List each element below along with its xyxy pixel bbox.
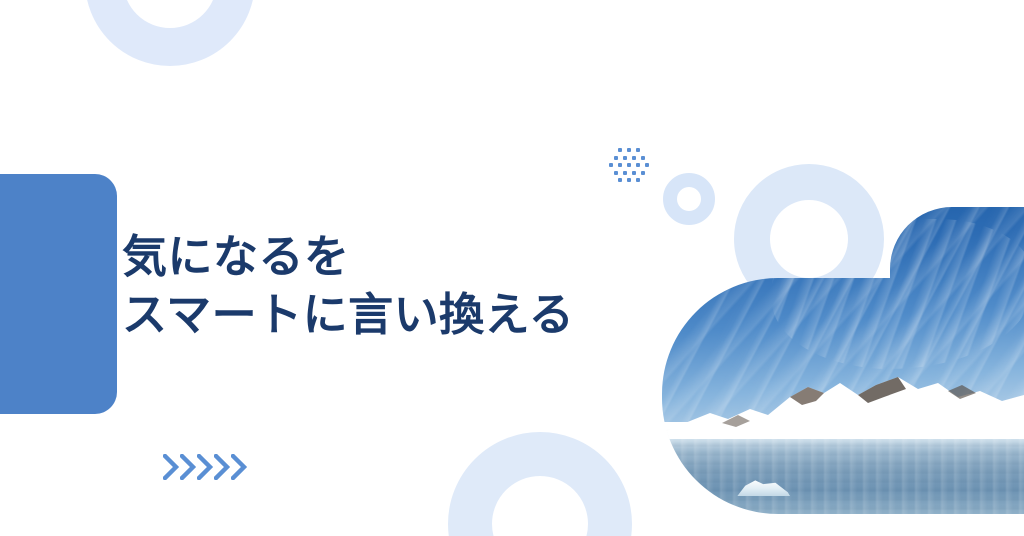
- cirrus-clouds: [890, 207, 1024, 317]
- dot: [614, 156, 618, 160]
- dot: [632, 171, 636, 175]
- dot: [614, 171, 618, 175]
- blue-rounded-block: [0, 174, 117, 414]
- dot: [641, 156, 645, 160]
- iceberg: [734, 479, 790, 496]
- ring-bottom: [448, 432, 632, 536]
- photo-scene: [890, 207, 1024, 317]
- dot-diamond: [604, 146, 654, 184]
- dot: [641, 171, 645, 175]
- ring-small: [663, 173, 715, 225]
- dot: [627, 148, 631, 152]
- chevron-right-icon: [214, 454, 230, 480]
- dot: [636, 148, 640, 152]
- dot: [645, 163, 649, 167]
- page-title: 気になるを スマートに言い換える: [122, 228, 574, 343]
- ring-large: [734, 164, 884, 314]
- snow-mountains: [662, 375, 1024, 451]
- ring-top-left: [85, 0, 255, 66]
- slide-canvas: 気になるを スマートに言い換える: [0, 0, 1024, 536]
- dot: [609, 163, 613, 167]
- dot: [618, 178, 622, 182]
- dot: [618, 163, 622, 167]
- cirrus-clouds-secondary: [890, 219, 1024, 317]
- sky: [890, 207, 1024, 317]
- page-title-line-1: 気になるを: [122, 228, 574, 286]
- dot: [632, 156, 636, 160]
- chevron-right-icon: [197, 454, 213, 480]
- dot: [623, 156, 627, 160]
- dot: [636, 178, 640, 182]
- photo-upper-block: [890, 207, 1024, 317]
- water-reflections: [662, 439, 1024, 514]
- chevron-arrows: [163, 453, 247, 481]
- page-title-line-2: スマートに言い換える: [122, 286, 574, 344]
- dot: [636, 163, 640, 167]
- dot: [618, 148, 622, 152]
- ice-shelf: [662, 429, 1024, 443]
- photo-lower-block: [662, 278, 1024, 514]
- water: [662, 439, 1024, 514]
- dot: [623, 171, 627, 175]
- chevron-right-icon: [163, 454, 179, 480]
- dot: [627, 178, 631, 182]
- chevron-right-icon: [180, 454, 196, 480]
- chevron-right-icon: [231, 454, 247, 480]
- photo-scene: [662, 278, 1024, 514]
- dot: [627, 163, 631, 167]
